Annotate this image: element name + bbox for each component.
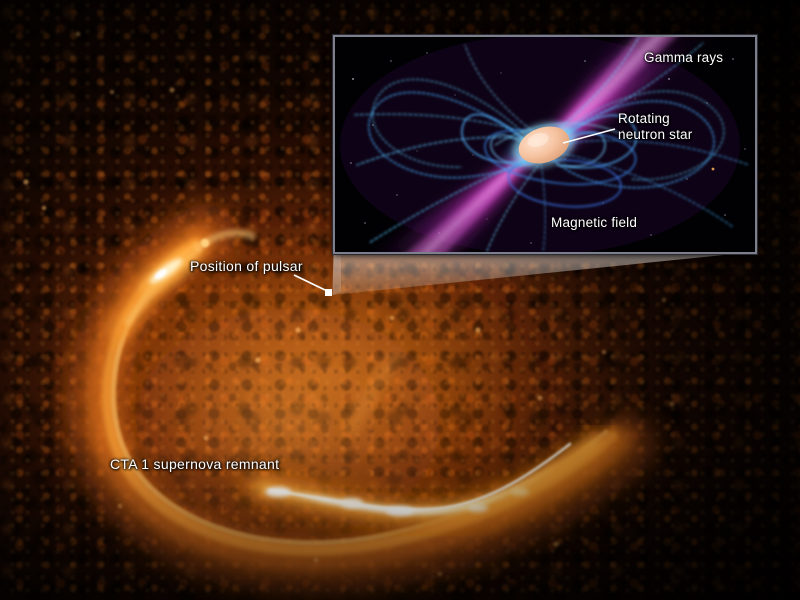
pulsar-leader-line [294, 275, 325, 290]
astronomy-image: Gamma rays Rotating neutron star Magneti… [0, 0, 800, 600]
pulsar-position-marker [325, 289, 332, 296]
annotation-layer [0, 0, 800, 600]
